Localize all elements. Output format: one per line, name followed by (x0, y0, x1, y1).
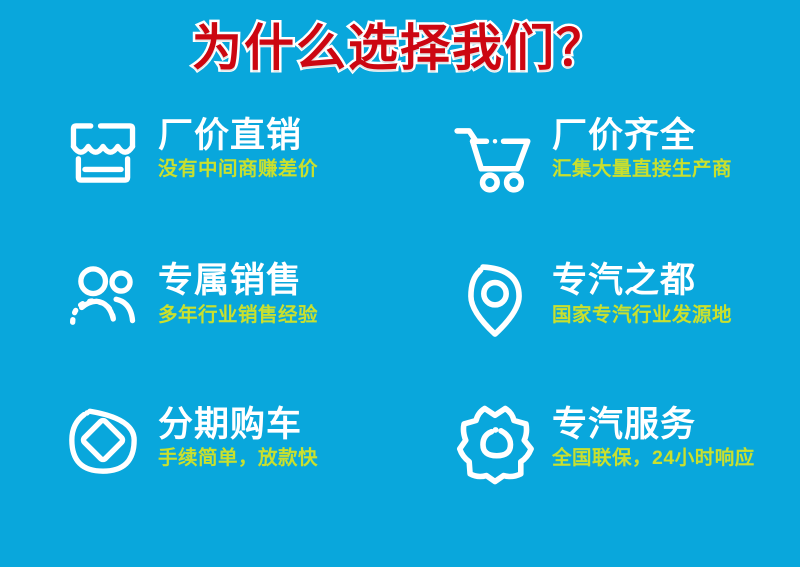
feature-item-special-vehicle-service[interactable]: 专汽服务 全国联保，24小时响应 (452, 399, 800, 542)
page-title: 为什么选择我们？ (192, 21, 608, 76)
feature-item-installment-purchase[interactable]: 分期购车 手续简单，放款快 (62, 399, 452, 542)
promo-poster: 为什么选择我们？ 厂价直销 没有中间商赚差价 (0, 0, 800, 567)
feature-subtitle: 国家专汽行业发源地 (552, 304, 732, 327)
feature-title: 专汽服务 (552, 405, 755, 444)
map-pin-icon (452, 255, 538, 337)
feature-title: 专属销售 (158, 261, 318, 300)
feature-item-special-vehicle-city[interactable]: 专汽之都 国家专汽行业发源地 (452, 255, 800, 398)
feature-text: 厂价齐全 汇集大量直接生产商 (552, 112, 732, 182)
feature-text: 专属销售 多年行业销售经验 (158, 255, 318, 327)
feature-title: 厂价直销 (158, 116, 318, 155)
two-people-icon (62, 255, 144, 337)
feature-text: 专汽之都 国家专汽行业发源地 (552, 255, 732, 327)
feature-text: 专汽服务 全国联保，24小时响应 (552, 399, 755, 471)
feature-subtitle: 汇集大量直接生产商 (552, 158, 732, 181)
feature-subtitle: 手续简单，放款快 (158, 447, 318, 470)
feature-subtitle: 多年行业销售经验 (158, 304, 318, 327)
feature-title: 厂价齐全 (552, 116, 732, 155)
feature-subtitle: 没有中间商赚差价 (158, 158, 318, 181)
feature-item-factory-direct[interactable]: 厂价直销 没有中间商赚差价 (62, 112, 452, 255)
feature-item-full-range[interactable]: 厂价齐全 汇集大量直接生产商 (452, 112, 800, 255)
gear-icon (452, 399, 538, 481)
storefront-icon (62, 112, 144, 194)
feature-title: 分期购车 (158, 405, 318, 444)
shopping-cart-icon (452, 112, 538, 194)
feature-title: 专汽之都 (552, 261, 732, 300)
circle-diamond-icon (62, 399, 144, 481)
feature-grid: 厂价直销 没有中间商赚差价 厂价齐全 汇集大量直接生产商 (0, 112, 800, 542)
feature-text: 分期购车 手续简单，放款快 (158, 399, 318, 471)
feature-item-dedicated-sales[interactable]: 专属销售 多年行业销售经验 (62, 255, 452, 398)
feature-text: 厂价直销 没有中间商赚差价 (158, 112, 318, 182)
feature-subtitle: 全国联保，24小时响应 (552, 447, 755, 470)
headline-container: 为什么选择我们？ (0, 21, 800, 76)
